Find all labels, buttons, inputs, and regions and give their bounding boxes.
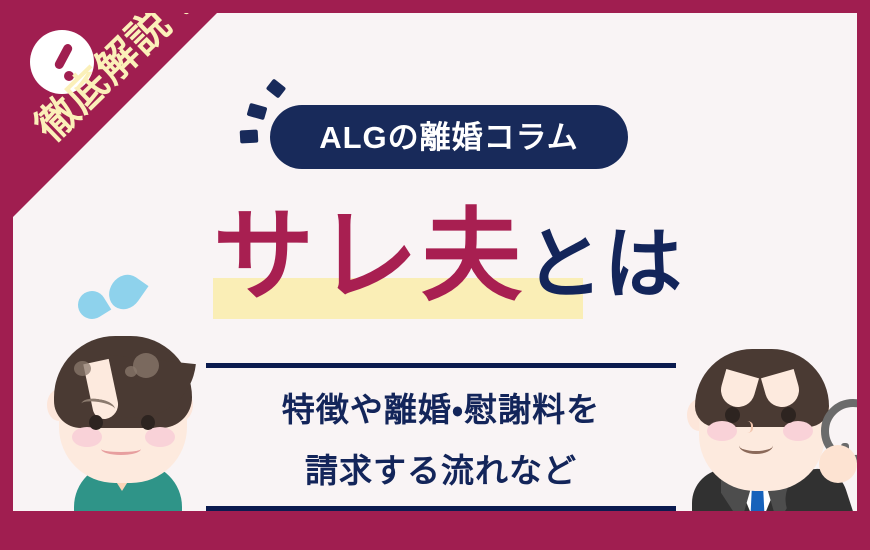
husband-eye-right [141, 415, 155, 430]
sparkle-dash-icon-3 [240, 130, 259, 144]
subtitle-line-1: 特徴や離婚・慰謝料を [206, 379, 676, 440]
title-suffix: とは [525, 220, 683, 308]
lawyer-blush-left [707, 421, 737, 441]
lawyer-nose [739, 421, 753, 433]
husband-blush-left [72, 427, 102, 447]
title-text-line: サレ夫とは [13, 199, 857, 345]
lawyer-blush-right [783, 421, 813, 441]
lawyer-smile-mouth [739, 437, 773, 454]
main-title: サレ夫とは [13, 199, 857, 321]
exclamation-circle-icon [30, 30, 94, 94]
category-badge-label: ALGの離婚コラム [319, 122, 579, 153]
husband-hair-shine-1 [74, 361, 91, 376]
subtitle-line-2: 請求する流れなど [206, 440, 676, 501]
husband-hair-shine-2 [133, 353, 159, 378]
category-badge: ALGの離婚コラム [270, 105, 628, 169]
sparkle-dash-icon-2 [247, 103, 268, 120]
content-panel: 徹底解説！ ALGの離婚コラム サレ夫とは 特徴や離婚・慰謝料を 請求する流れな… [13, 13, 857, 524]
husband-blush-right [145, 427, 175, 447]
title-keyword: サレ夫 [213, 201, 525, 313]
lawyer-hand [819, 445, 857, 483]
ribbon-label: 徹底解説！ [19, 13, 212, 152]
husband-eye-left [89, 415, 103, 430]
sparkle-dash-icon-1 [266, 78, 287, 98]
bottom-accent-bar [13, 511, 857, 524]
husband-frown-mouth [101, 443, 141, 455]
lawyer-illustration [677, 347, 857, 524]
lawyer-hair [695, 349, 829, 427]
thumbnail-canvas: 徹底解説！ ALGの離婚コラム サレ夫とは 特徴や離婚・慰謝料を 請求する流れな… [0, 0, 870, 550]
lawyer-eye-left [725, 407, 740, 423]
exclamation-stroke [53, 42, 74, 70]
exclamation-dot [64, 71, 74, 81]
lawyer-eye-right [781, 407, 796, 423]
subtitle-rule-top [206, 363, 676, 368]
husband-hair-shine-3 [125, 366, 137, 377]
subtitle: 特徴や離婚・慰謝料を 請求する流れなど [206, 379, 676, 501]
sad-husband-illustration [35, 331, 221, 524]
